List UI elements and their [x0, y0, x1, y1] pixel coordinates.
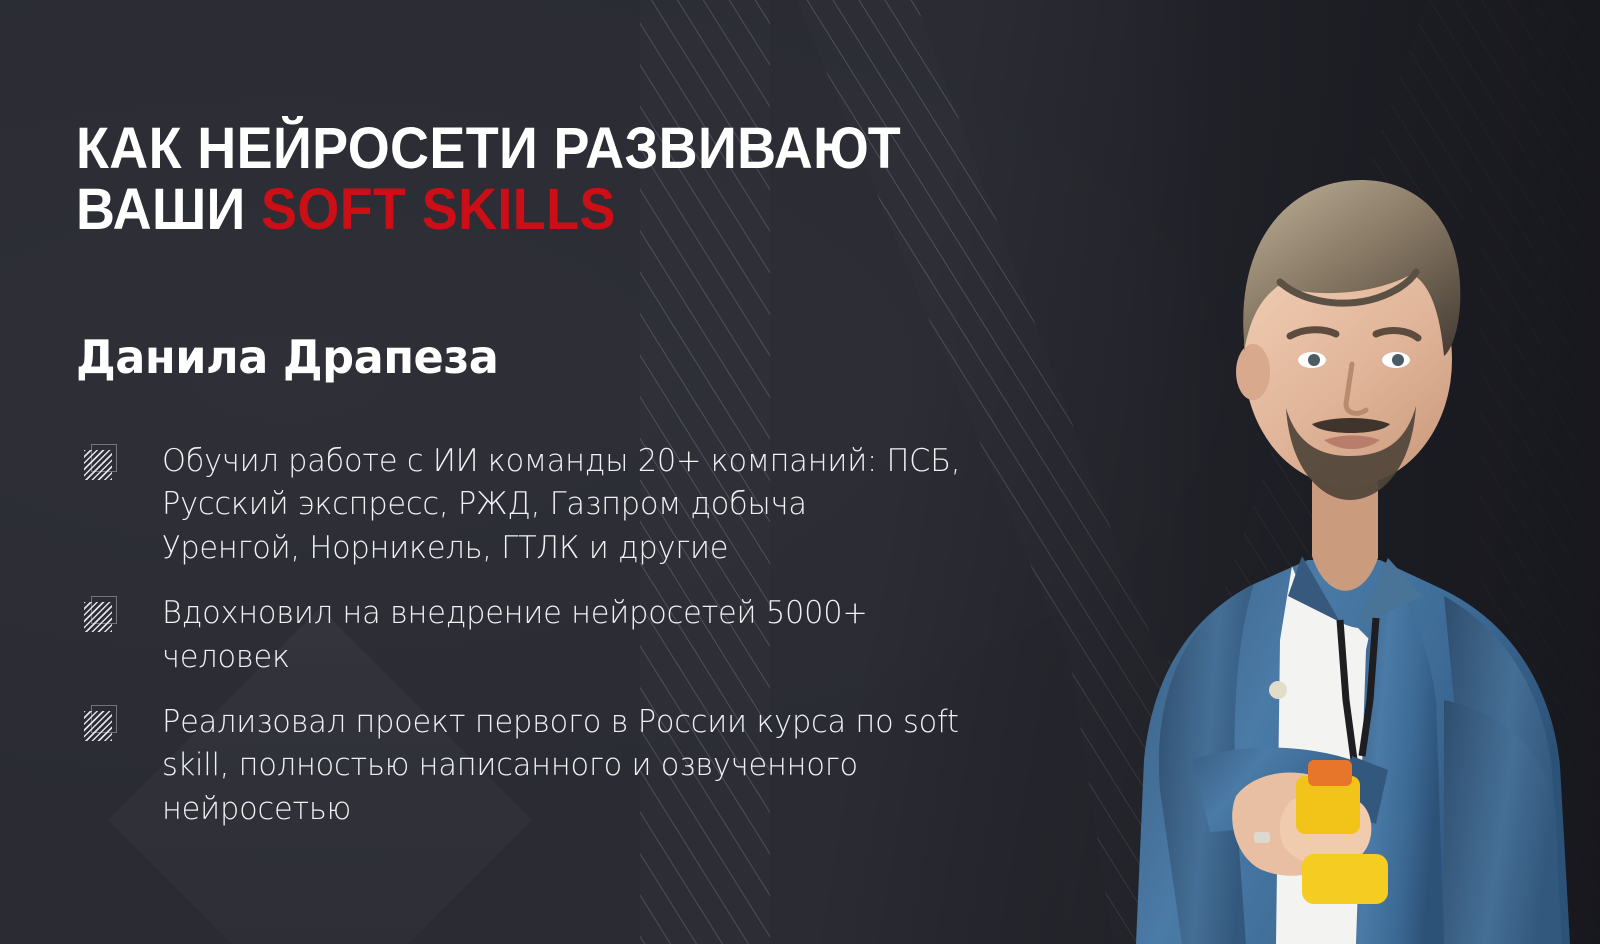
headline-line-2-plain: Ваши — [76, 177, 261, 242]
list-item: Обучил работе с ИИ команды 20+ компаний:… — [76, 440, 1036, 570]
hatched-square-icon — [84, 709, 118, 743]
hatched-square-icon — [84, 448, 118, 482]
headline-accent: soft skills — [261, 177, 616, 242]
speaker-name: Данила Драпеза — [76, 332, 498, 383]
list-item-text: Обучил работе с ИИ команды 20+ компаний:… — [162, 440, 1019, 570]
slide-content: Как нейросети развивают Ваши soft skills… — [76, 0, 1056, 944]
list-item: Реализовал проект первого в России курса… — [76, 701, 1036, 831]
presentation-slide: Как нейросети развивают Ваши soft skills… — [0, 0, 1600, 944]
headline-line-1: Как нейросети развивают — [76, 116, 901, 181]
list-item-text: Реализовал проект первого в России курса… — [162, 701, 1019, 831]
list-item: Вдохновил на внедрение нейросетей 5000+ … — [76, 592, 1036, 679]
hatched-square-icon — [84, 600, 118, 634]
list-item-text: Вдохновил на внедрение нейросетей 5000+ … — [162, 592, 1019, 679]
page-title: Как нейросети развивают Ваши soft skills — [76, 118, 950, 241]
credentials-list: Обучил работе с ИИ команды 20+ компаний:… — [76, 440, 1036, 831]
